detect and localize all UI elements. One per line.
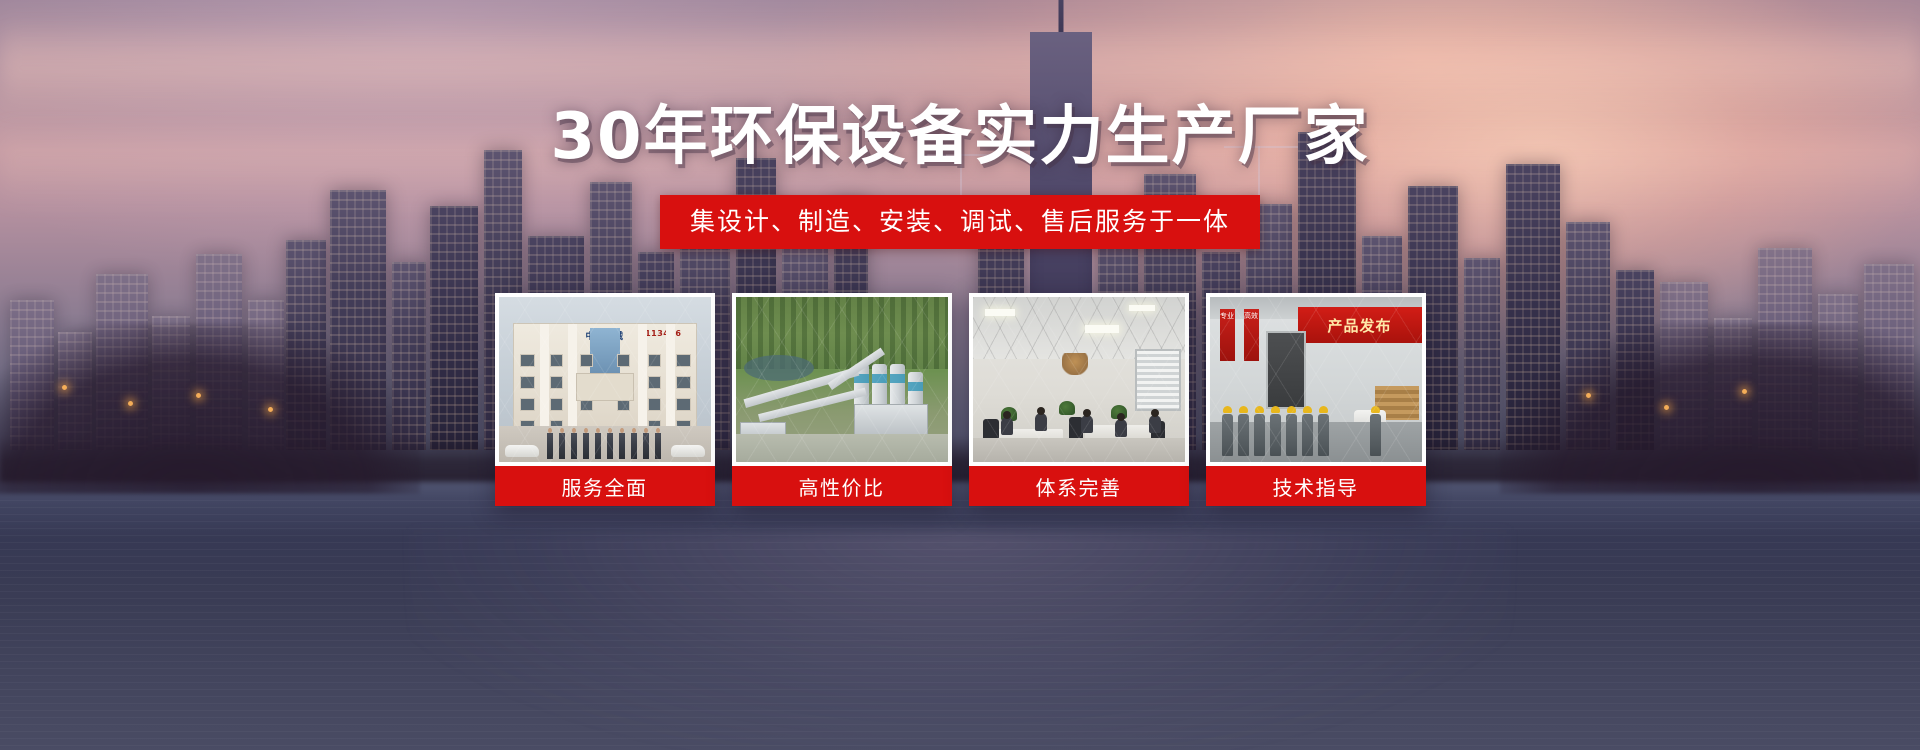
- feature-card-label: 技术指导: [1206, 466, 1426, 506]
- page-title: 30年环保设备实力生产厂家: [550, 104, 1369, 171]
- aerial-production-plant-photo: [736, 297, 948, 462]
- feature-card-label: 体系完善: [969, 466, 1189, 506]
- feature-card-label: 服务全面: [495, 466, 715, 506]
- factory-workshop-workers-photo: 专业 高效 产品发布: [1210, 297, 1422, 462]
- pillar-banner-right: 高效: [1244, 309, 1259, 361]
- pillar-banner-left: 专业: [1220, 309, 1235, 361]
- feature-card-list: 中基机械 4113456: [495, 293, 1426, 506]
- feature-card[interactable]: 体系完善: [969, 293, 1189, 506]
- feature-card-label: 高性价比: [732, 466, 952, 506]
- company-headquarters-building-photo: 中基机械 4113456: [499, 297, 711, 462]
- feature-card[interactable]: 中基机械 4113456: [495, 293, 715, 506]
- feature-card[interactable]: 专业 高效 产品发布 技术指导: [1206, 293, 1426, 506]
- office-staff-workspace-photo: [973, 297, 1185, 462]
- subtitle-banner: 集设计、制造、安装、调试、售后服务于一体: [660, 195, 1260, 249]
- hero-banner: 30年环保设备实力生产厂家 集设计、制造、安装、调试、售后服务于一体 中基机械 …: [0, 0, 1920, 750]
- feature-card[interactable]: 高性价比: [732, 293, 952, 506]
- factory-red-banner: 产品发布: [1298, 307, 1422, 343]
